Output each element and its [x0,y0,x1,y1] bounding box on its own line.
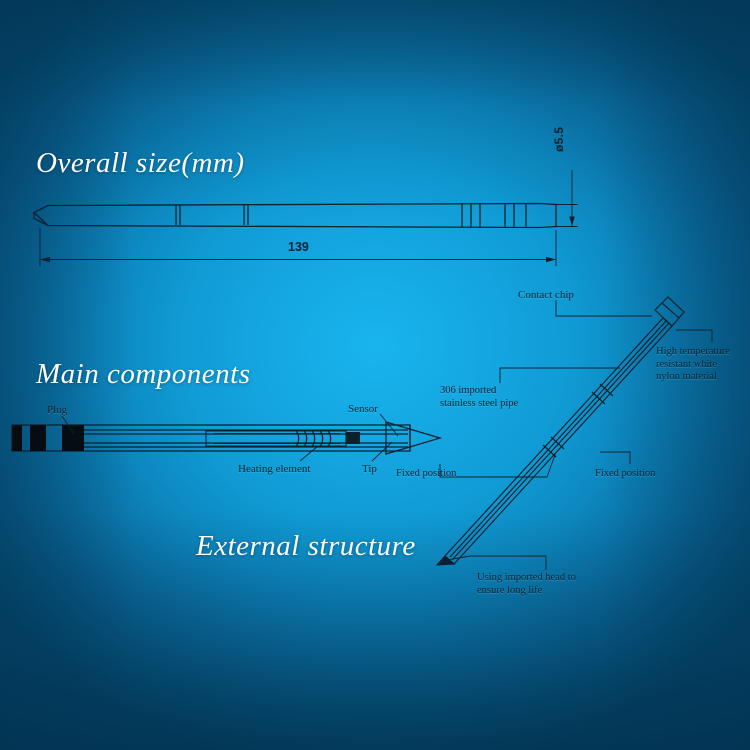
product-spec-diagram: Overall size(mm) [0,0,750,750]
leader-fixed-right [600,452,630,464]
label-steel-pipe: 306 imported stainless steel pipe [440,385,560,410]
leader-nylon [676,330,712,342]
label-fixed-position-right: Fixed position [595,468,655,481]
label-steel-pipe-line-1: 306 imported [440,385,496,396]
leader-steel-pipe [500,368,620,383]
external-structure-drawing [0,0,750,750]
label-fixed-position-left: Fixed position [396,468,456,481]
label-nylon-material: High temperature resistant white nylon m… [656,346,750,384]
label-nylon-line-1: High temperature [656,346,730,357]
diagonal-probe-body [437,297,684,565]
leader-contact-chip [556,300,652,316]
label-imported-head-line-2: ensure long life [477,585,542,596]
label-nylon-line-2: resistant white [656,359,717,370]
label-imported-head: Using imported head to ensure long life [477,572,617,597]
leader-imported-head [447,556,546,570]
label-contact-chip: Contact chip [518,289,574,302]
label-steel-pipe-line-2: stainless steel pipe [440,398,518,409]
leader-fixed-left [440,452,556,477]
label-nylon-line-3: nylon material [656,371,717,382]
structure-leader-lines [440,300,712,570]
label-imported-head-line-1: Using imported head to [477,572,576,583]
